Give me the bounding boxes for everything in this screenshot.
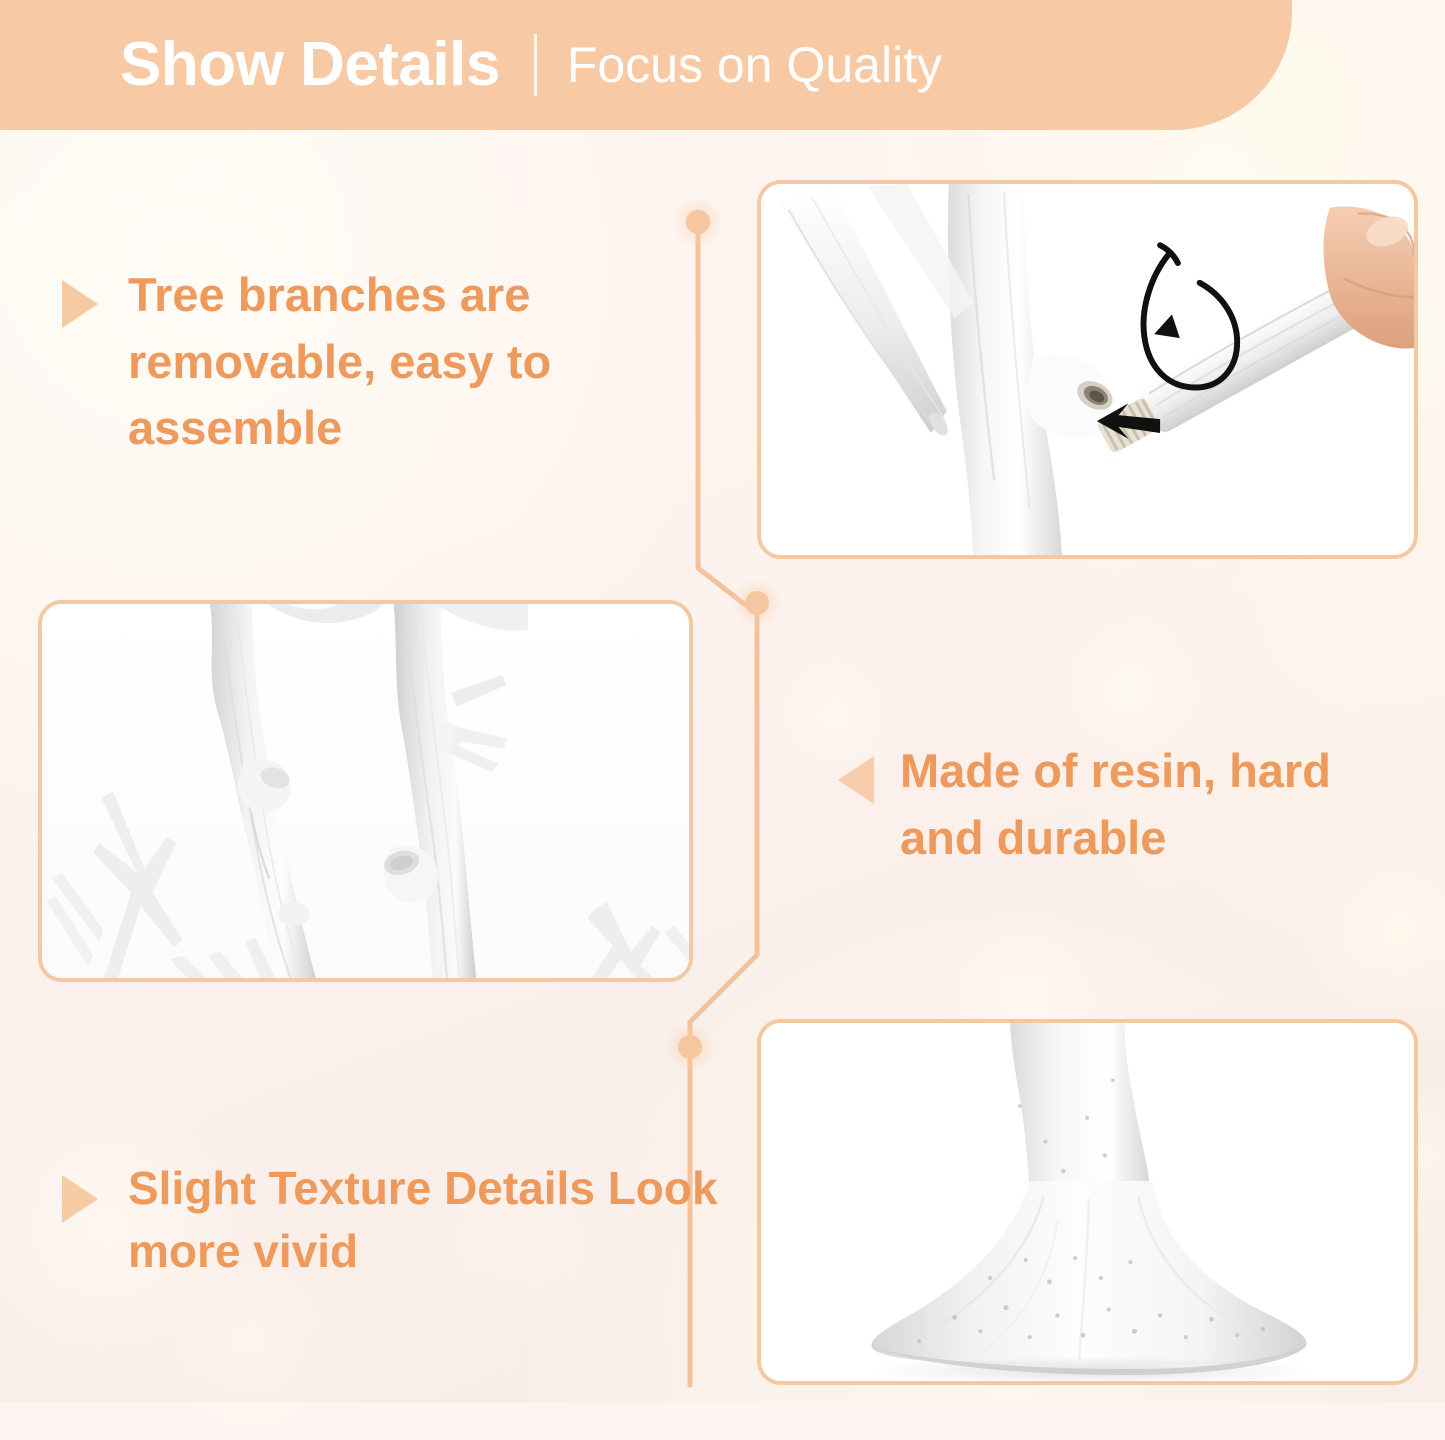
feature-text: Tree branches are removable, easy to ass…: [128, 262, 677, 462]
branch-attach-photo: [761, 184, 1414, 558]
header-subtitle: Focus on Quality: [567, 40, 942, 90]
triangle-right-icon: [62, 1175, 98, 1223]
feature-branches-removable: Tree branches are removable, easy to ass…: [62, 262, 677, 462]
feature-made-of-resin: Made of resin, hard and durable: [838, 738, 1418, 871]
feature-text: Slight Texture Details Look more vivid: [128, 1157, 722, 1284]
header-banner: Show Details Focus on Quality: [0, 0, 1292, 130]
feature-text: Made of resin, hard and durable: [900, 738, 1418, 871]
photo-panel-branch-attach: [757, 180, 1418, 559]
triangle-right-icon: [62, 280, 98, 328]
triangle-left-icon: [838, 756, 874, 804]
photo-panel-branch-texture: [38, 600, 693, 982]
feature-texture-details: Slight Texture Details Look more vivid: [62, 1157, 722, 1284]
page-title: Show Details: [120, 34, 500, 96]
header-divider: [534, 34, 537, 96]
branch-texture-photo: [42, 604, 689, 981]
photo-panel-base: [757, 1019, 1418, 1385]
base-photo: [761, 1023, 1414, 1385]
